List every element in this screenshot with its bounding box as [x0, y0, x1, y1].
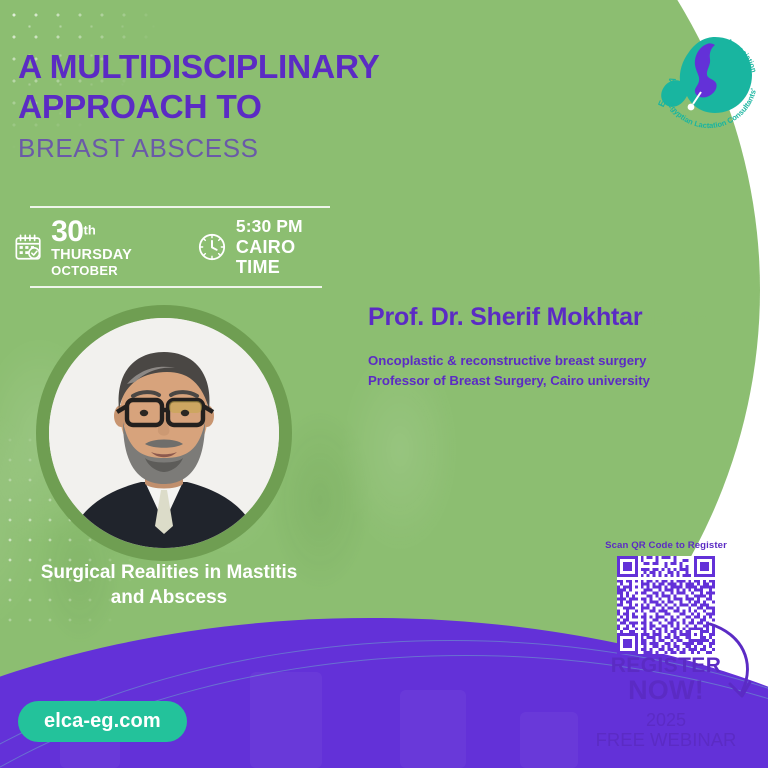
page-title: A MULTIDISCIPLINARY APPROACH TO	[18, 48, 438, 128]
clock-icon	[197, 231, 227, 263]
avatar-image	[49, 318, 279, 548]
event-date-ordinal: th	[84, 223, 96, 238]
event-date-text: 30th THURSDAY OCTOBER	[51, 217, 173, 277]
event-time-text: 5:30 PM CAIRO TIME	[236, 217, 338, 277]
title-line-2: APPROACH TO	[18, 89, 262, 126]
divider-bottom	[30, 286, 322, 288]
event-time: 5:30 PM CAIRO TIME	[197, 217, 338, 277]
event-date-weekday: THURSDAY	[51, 247, 132, 263]
session-topic-line-2: and Abscess	[111, 587, 228, 608]
event-meta-row: 30th THURSDAY OCTOBER 5	[8, 208, 338, 286]
event-time-value: 5:30 PM	[236, 217, 338, 237]
speaker-credentials: Oncoplastic & reconstructive breast surg…	[368, 351, 748, 392]
event-date-day: 30	[51, 215, 83, 248]
free-webinar-label: FREE WEBINAR	[576, 730, 756, 750]
speaker-name: Prof. Dr. Sherif Mokhtar	[368, 303, 642, 331]
curved-arrow-icon	[702, 618, 764, 718]
speaker-credential-line-1: Oncoplastic & reconstructive breast surg…	[368, 351, 748, 371]
website-badge[interactable]: elca-eg.com	[18, 701, 187, 742]
qr-caption: Scan QR Code to Register	[576, 540, 756, 551]
qr-code[interactable]	[617, 556, 715, 654]
speaker-name-row: Prof. Dr. Sherif Mokhtar(EGYPT)	[368, 303, 748, 332]
registration-block: Scan QR Code to Register	[576, 540, 756, 751]
speaker-portrait	[49, 318, 279, 548]
avatar	[36, 305, 292, 561]
webinar-poster: A MULTIDISCIPLINARY APPROACH TO BREAST A…	[0, 0, 768, 768]
logo-drop-dot	[688, 104, 695, 111]
speaker-block: Prof. Dr. Sherif Mokhtar(EGYPT) Oncoplas…	[368, 303, 748, 392]
speaker-country: (EGYPT)	[648, 313, 707, 329]
elca-logo-icon: Association Egyptian Lactation Consultan…	[655, 20, 763, 132]
event-date-month: OCTOBER	[51, 264, 173, 277]
page-subtitle: BREAST ABSCESS	[18, 134, 438, 163]
session-topic: Surgical Realities in Mastitis and Absce…	[14, 560, 324, 610]
headline-block: A MULTIDISCIPLINARY APPROACH TO BREAST A…	[18, 48, 438, 162]
session-topic-line-1: Surgical Realities in Mastitis	[41, 562, 298, 583]
calendar-check-icon	[14, 232, 42, 262]
event-date: 30th THURSDAY OCTOBER	[14, 217, 173, 277]
title-line-1: A MULTIDISCIPLINARY	[18, 49, 380, 86]
elca-logo: Association Egyptian Lactation Consultan…	[655, 20, 763, 132]
event-meta-strip: 30th THURSDAY OCTOBER 5	[8, 206, 338, 288]
event-timezone: CAIRO TIME	[236, 237, 338, 277]
speaker-credential-line-2: Professor of Breast Surgery, Cairo unive…	[368, 371, 748, 391]
